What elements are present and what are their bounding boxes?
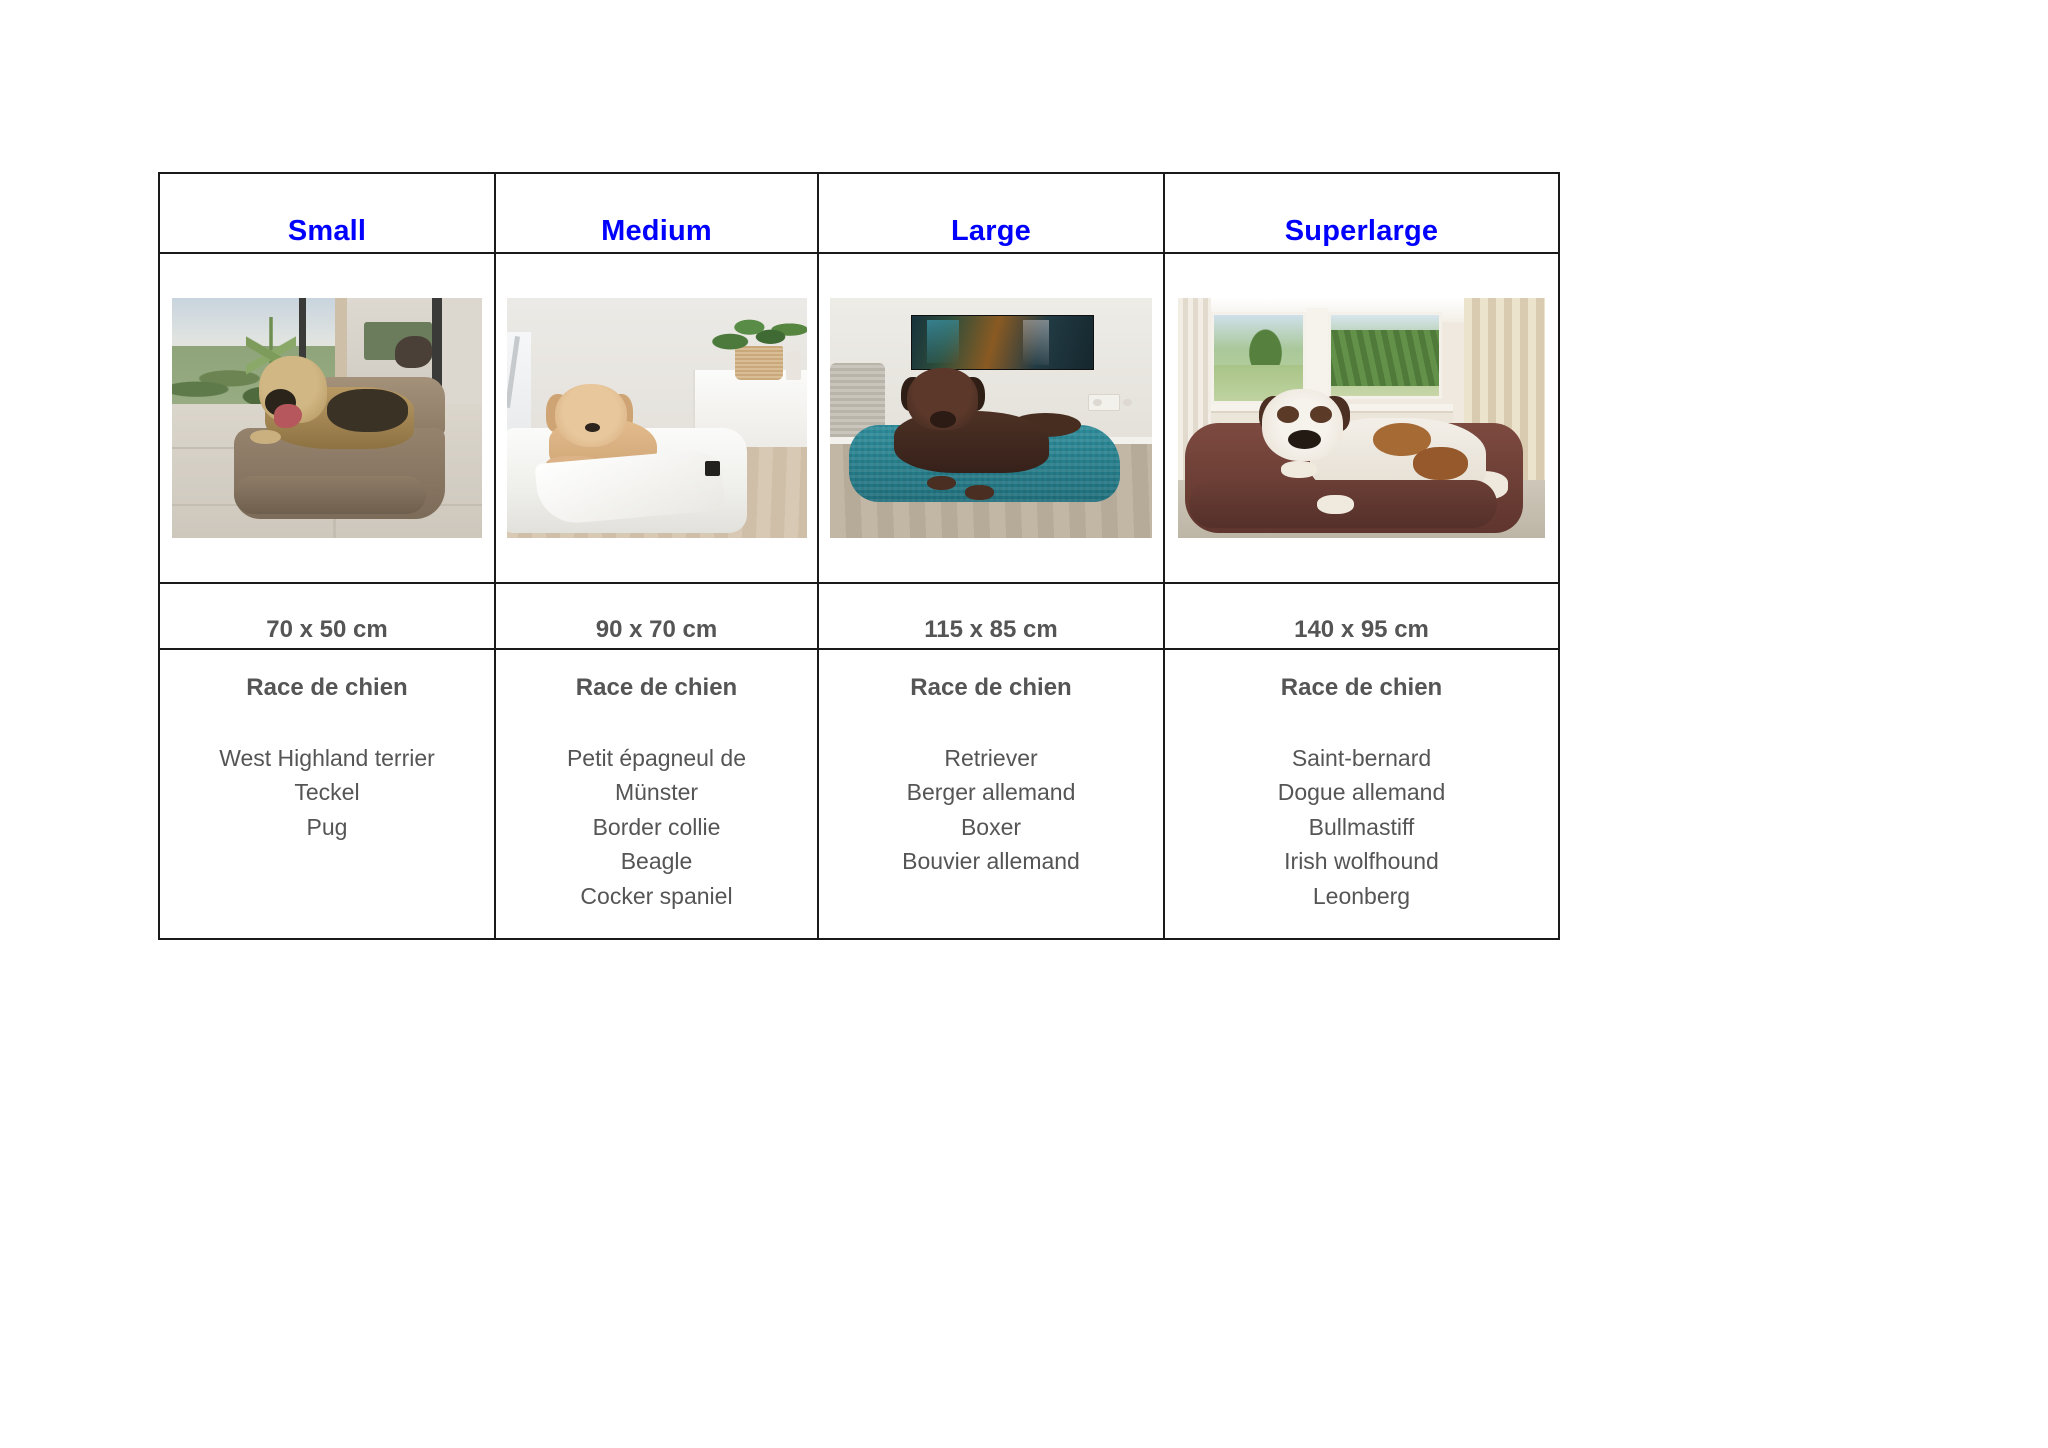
list-item: Leonberg — [1165, 879, 1558, 914]
list-item: Irish wolfhound — [1165, 844, 1558, 879]
list-item: Saint-bernard — [1165, 741, 1558, 776]
dog-bed-size-table: Small Medium Large Superlarge — [158, 172, 1560, 940]
size-header-large: Large — [819, 217, 1163, 246]
header-cell-small: Small — [159, 173, 495, 253]
breeds-list-small: West Highland terrier Teckel Pug — [160, 741, 494, 845]
product-photo-medium — [507, 298, 807, 538]
breeds-cell-superlarge: Race de chien Saint-bernard Dogue allema… — [1164, 649, 1559, 939]
list-item: Bouvier allemand — [819, 844, 1163, 879]
photo-cell-superlarge — [1164, 253, 1559, 583]
product-photo-large — [830, 298, 1152, 538]
document-page: Small Medium Large Superlarge — [0, 0, 2048, 1448]
table-header-row: Small Medium Large Superlarge — [159, 173, 1559, 253]
product-photo-small — [172, 298, 482, 538]
table-photo-row — [159, 253, 1559, 583]
dimensions-large: 115 x 85 cm — [819, 618, 1163, 642]
dimensions-medium: 90 x 70 cm — [496, 618, 817, 642]
breeds-title-small: Race de chien — [160, 674, 494, 703]
breeds-list-large: Retriever Berger allemand Boxer Bouvier … — [819, 741, 1163, 879]
list-item: Münster — [496, 775, 817, 810]
breeds-cell-large: Race de chien Retriever Berger allemand … — [818, 649, 1164, 939]
table-dimensions-row: 70 x 50 cm 90 x 70 cm 115 x 85 cm 140 x … — [159, 583, 1559, 649]
list-item: Cocker spaniel — [496, 879, 817, 914]
size-header-small: Small — [160, 217, 494, 246]
breeds-list-medium: Petit épagneul de Münster Border collie … — [496, 741, 817, 914]
breeds-title-large: Race de chien — [819, 674, 1163, 703]
dimensions-cell-small: 70 x 50 cm — [159, 583, 495, 649]
photo-cell-large — [818, 253, 1164, 583]
list-item: Pug — [160, 810, 494, 845]
size-header-superlarge: Superlarge — [1165, 217, 1558, 246]
size-header-medium: Medium — [496, 217, 817, 246]
dimensions-cell-large: 115 x 85 cm — [818, 583, 1164, 649]
list-item: Teckel — [160, 775, 494, 810]
dimensions-superlarge: 140 x 95 cm — [1165, 618, 1558, 642]
table-breeds-row: Race de chien West Highland terrier Teck… — [159, 649, 1559, 939]
breeds-title-superlarge: Race de chien — [1165, 674, 1558, 703]
breeds-cell-small: Race de chien West Highland terrier Teck… — [159, 649, 495, 939]
list-item: Border collie — [496, 810, 817, 845]
list-item: West Highland terrier — [160, 741, 494, 776]
breeds-list-superlarge: Saint-bernard Dogue allemand Bullmastiff… — [1165, 741, 1558, 914]
list-item: Berger allemand — [819, 775, 1163, 810]
list-item: Boxer — [819, 810, 1163, 845]
breeds-title-medium: Race de chien — [496, 674, 817, 703]
list-item: Retriever — [819, 741, 1163, 776]
list-item: Petit épagneul de — [496, 741, 817, 776]
photo-cell-medium — [495, 253, 818, 583]
dimensions-cell-medium: 90 x 70 cm — [495, 583, 818, 649]
list-item: Beagle — [496, 844, 817, 879]
breeds-cell-medium: Race de chien Petit épagneul de Münster … — [495, 649, 818, 939]
dimensions-cell-superlarge: 140 x 95 cm — [1164, 583, 1559, 649]
list-item: Bullmastiff — [1165, 810, 1558, 845]
dimensions-small: 70 x 50 cm — [160, 618, 494, 642]
header-cell-large: Large — [818, 173, 1164, 253]
list-item: Dogue allemand — [1165, 775, 1558, 810]
header-cell-superlarge: Superlarge — [1164, 173, 1559, 253]
product-photo-superlarge — [1178, 298, 1545, 538]
header-cell-medium: Medium — [495, 173, 818, 253]
photo-cell-small — [159, 253, 495, 583]
